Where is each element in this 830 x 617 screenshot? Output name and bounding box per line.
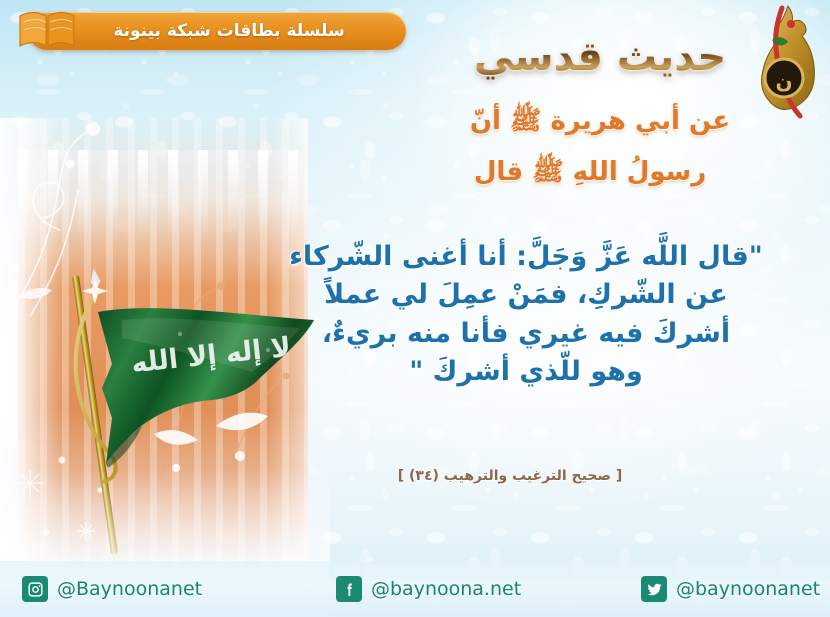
hadith-line: أشركَ فيه غيري فأنا منه بريءٌ، <box>266 315 786 353</box>
facebook-account[interactable]: @baynoona.net <box>336 576 521 602</box>
facebook-handle: @baynoona.net <box>371 578 521 600</box>
prophet-line: رسولُ اللهِ ﷺ قال <box>390 155 790 193</box>
curtain-left-fade <box>0 118 70 588</box>
curtain-top-highlight <box>18 150 308 240</box>
series-banner: سلسلة بطاقات شبكة بينونة <box>28 12 406 50</box>
page-title: حديث قدسي <box>430 34 770 80</box>
svg-text:ن: ن <box>775 69 792 93</box>
narrator-line: عن أبي هريرة ﷺ أنّ <box>420 104 780 142</box>
series-banner-label: سلسلة بطاقات شبكة بينونة <box>67 21 366 41</box>
open-book-icon <box>16 6 78 54</box>
instagram-handle: @Baynoonanet <box>57 578 202 600</box>
twitter-icon <box>641 576 667 602</box>
twitter-account[interactable]: @baynoonanet <box>641 576 820 602</box>
hadith-text: "قال اللَّه عَزَّ وَجَلَّ: أنا أغنى الشّ… <box>266 238 786 391</box>
twitter-handle: @baynoonanet <box>676 578 820 600</box>
facebook-icon <box>336 576 362 602</box>
flag-sparkle-icon <box>82 278 108 304</box>
social-footer: @Baynoonanet @baynoona.net @baynoonanet <box>0 561 830 617</box>
hadith-source-citation: [ صحيح الترغيب والترهيب (٣٤) ] <box>310 468 710 484</box>
instagram-icon <box>22 576 48 602</box>
hadith-line: "قال اللَّه عَزَّ وَجَلَّ: أنا أغنى الشّ… <box>266 238 786 276</box>
islamic-hadith-card: لا إله إلا الله سلسلة بطاقات شبكة بينونة <box>0 0 830 617</box>
hadith-line: وهو للّذي أشركَ " <box>266 353 786 391</box>
hadith-line: عن الشّركِ، فمَنْ عمِلَ لي عملاً <box>266 276 786 314</box>
instagram-account[interactable]: @Baynoonanet <box>22 576 202 602</box>
